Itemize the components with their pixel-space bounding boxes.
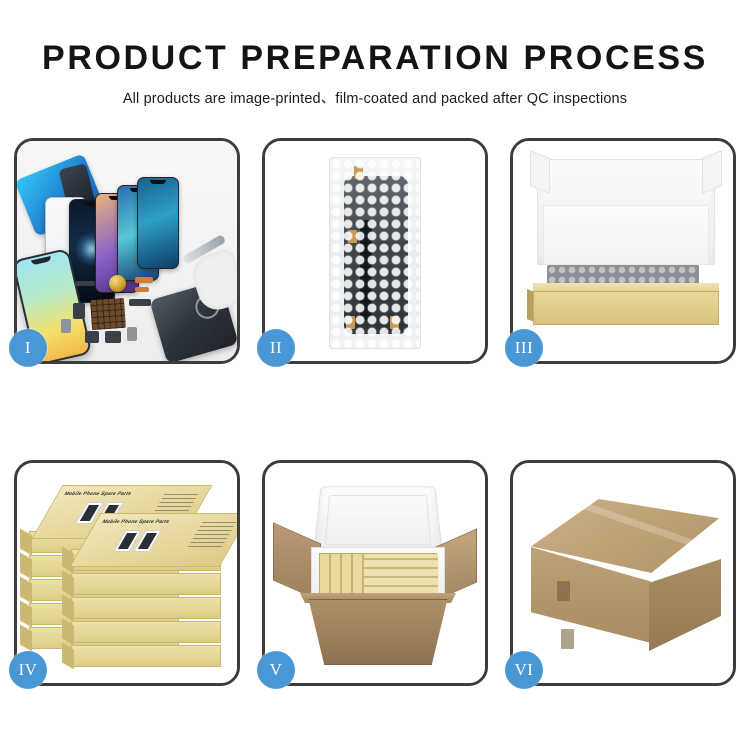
foam-sheet-icon	[543, 205, 709, 265]
step-badge-3: III	[505, 329, 543, 367]
tape-icon	[561, 629, 574, 649]
step-badge-6: VI	[505, 651, 543, 689]
bubble-texture-icon	[330, 158, 420, 348]
step-3-image	[513, 141, 733, 361]
speaker-component-icon	[109, 275, 126, 292]
process-step-3: III	[510, 138, 736, 364]
packed-boxes-icon	[319, 553, 437, 595]
component-part-icon	[127, 327, 137, 341]
screw-mat-icon	[90, 298, 126, 330]
component-part-icon	[73, 303, 85, 319]
component-part-icon	[75, 281, 95, 286]
box-spec-lines-icon	[187, 522, 236, 548]
step-badge-5: V	[257, 651, 295, 689]
step-1-image	[17, 141, 237, 361]
process-step-2: II	[262, 138, 488, 364]
box-label-text: Mobile Phone Spare Parts	[63, 491, 133, 497]
component-part-icon	[129, 299, 151, 306]
step-2-image	[265, 141, 485, 361]
component-part-icon	[105, 331, 121, 343]
phone-screen-teal-icon	[137, 177, 179, 269]
kraft-box-layer	[71, 597, 221, 619]
box-label-text: Mobile Phone Spare Parts	[101, 519, 171, 525]
page-title: PRODUCT PREPARATION PROCESS	[0, 38, 750, 78]
process-step-grid: I II	[14, 138, 736, 686]
flex-cable-icon	[135, 277, 153, 283]
component-part-icon	[61, 319, 71, 333]
kraft-box-stack-icon: Mobile Phone Spare Parts Mobile Phone Sp…	[25, 487, 231, 671]
process-step-6: VI	[510, 460, 736, 686]
carton-body-icon	[299, 599, 457, 665]
step-6-image	[513, 463, 733, 683]
product-preparation-process-page: PRODUCT PREPARATION PROCESS All products…	[0, 0, 750, 750]
process-step-1: I	[14, 138, 240, 364]
bubble-wrap-bag-icon	[329, 157, 421, 349]
component-part-icon	[85, 331, 99, 343]
process-step-4: Mobile Phone Spare Parts Mobile Phone Sp…	[14, 460, 240, 686]
page-header: PRODUCT PREPARATION PROCESS All products…	[0, 0, 750, 108]
tape-icon	[557, 581, 570, 601]
kraft-box-layer	[71, 621, 221, 643]
kraft-box-layer	[71, 645, 221, 667]
step-badge-1: I	[9, 329, 47, 367]
carton-face-right-icon	[649, 559, 721, 651]
step-4-image: Mobile Phone Spare Parts Mobile Phone Sp…	[17, 463, 237, 683]
box-front-icon	[533, 291, 719, 325]
step-badge-2: II	[257, 329, 295, 367]
foam-lid-icon	[313, 486, 443, 555]
step-badge-4: IV	[9, 651, 47, 689]
page-subtitle: All products are image-printed、film-coat…	[0, 87, 750, 108]
kraft-box-layer	[71, 573, 221, 595]
kraft-box-top-front: Mobile Phone Spare Parts	[69, 513, 237, 567]
step-5-image	[265, 463, 485, 683]
process-step-5: V	[262, 460, 488, 686]
flex-cable-icon	[135, 287, 149, 292]
